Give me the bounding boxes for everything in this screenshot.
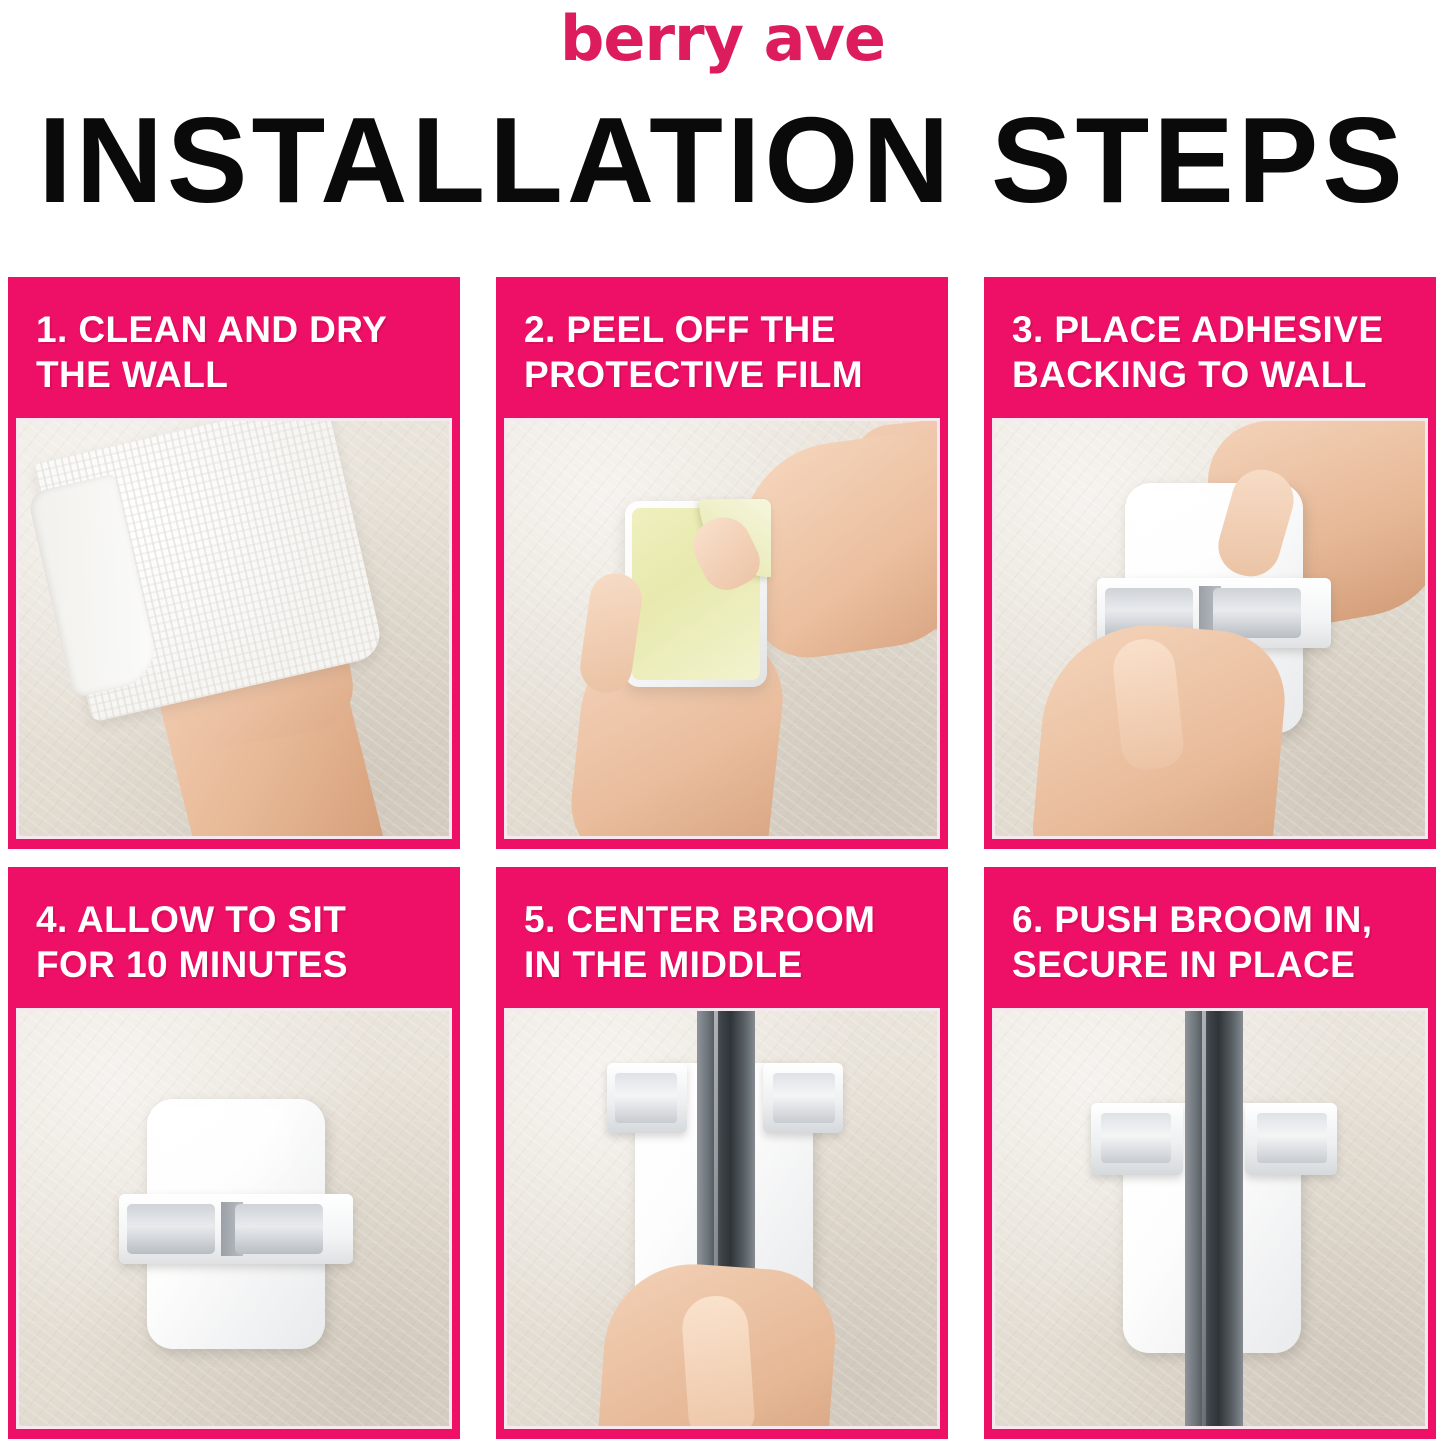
step-title-4: 4. ALLOW TO SIT FOR 10 MINUTES	[36, 897, 434, 987]
step-card-2: 2. PEEL OFF THE PROTECTIVE FILM	[496, 277, 948, 849]
holder-channel	[119, 1194, 353, 1264]
step-card-5: 5. CENTER BROOM IN THE MIDDLE	[496, 867, 948, 1439]
step-header-4: 4. ALLOW TO SIT FOR 10 MINUTES	[8, 867, 460, 1008]
thumb	[680, 1294, 756, 1429]
step-title-2: 2. PEEL OFF THE PROTECTIVE FILM	[524, 307, 922, 397]
step-title-6: 6. PUSH BROOM IN, SECURE IN PLACE	[1012, 897, 1410, 987]
step-photo-1	[16, 418, 452, 839]
gripper-left	[607, 1063, 687, 1133]
step-header-5: 5. CENTER BROOM IN THE MIDDLE	[496, 867, 948, 1008]
gripper-pad-right	[1257, 1113, 1327, 1163]
page-title: INSTALLATION STEPS	[7, 96, 1438, 224]
step-header-2: 2. PEEL OFF THE PROTECTIVE FILM	[496, 277, 948, 418]
step-title-1: 1. CLEAN AND DRY THE WALL	[36, 307, 434, 397]
gripper-pad-left	[615, 1073, 677, 1123]
step-header-3: 3. PLACE ADHESIVE BACKING TO WALL	[984, 277, 1436, 418]
gripper-roller-right	[1213, 588, 1301, 638]
gripper-pad-right	[773, 1073, 835, 1123]
brand-logo: berry ave	[0, 2, 1445, 76]
gripper-roller-right	[235, 1204, 323, 1254]
step-photo-2	[504, 418, 940, 839]
gripper-roller-left	[127, 1204, 215, 1254]
step-header-1: 1. CLEAN AND DRY THE WALL	[8, 277, 460, 418]
gripper-right	[1245, 1103, 1337, 1175]
installation-steps-infographic: berry ave INSTALLATION STEPS 1. CLEAN AN…	[0, 0, 1445, 1443]
step-photo-4	[16, 1008, 452, 1429]
step-card-4: 4. ALLOW TO SIT FOR 10 MINUTES	[8, 867, 460, 1439]
steps-grid: 1. CLEAN AND DRY THE WALL	[8, 277, 1437, 1439]
step-photo-3	[992, 418, 1428, 839]
step-photo-6	[992, 1008, 1428, 1429]
step-card-3: 3. PLACE ADHESIVE BACKING TO WALL	[984, 277, 1436, 849]
step-title-3: 3. PLACE ADHESIVE BACKING TO WALL	[1012, 307, 1410, 397]
gripper-pad-left	[1101, 1113, 1171, 1163]
step-header-6: 6. PUSH BROOM IN, SECURE IN PLACE	[984, 867, 1436, 1008]
gripper-left	[1091, 1103, 1183, 1175]
broom-holder	[147, 1099, 325, 1349]
step-card-1: 1. CLEAN AND DRY THE WALL	[8, 277, 460, 849]
step-photo-5	[504, 1008, 940, 1429]
gripper-right	[763, 1063, 843, 1133]
step-title-5: 5. CENTER BROOM IN THE MIDDLE	[524, 897, 922, 987]
step-card-6: 6. PUSH BROOM IN, SECURE IN PLACE	[984, 867, 1436, 1439]
broom-handle	[1185, 1008, 1243, 1429]
